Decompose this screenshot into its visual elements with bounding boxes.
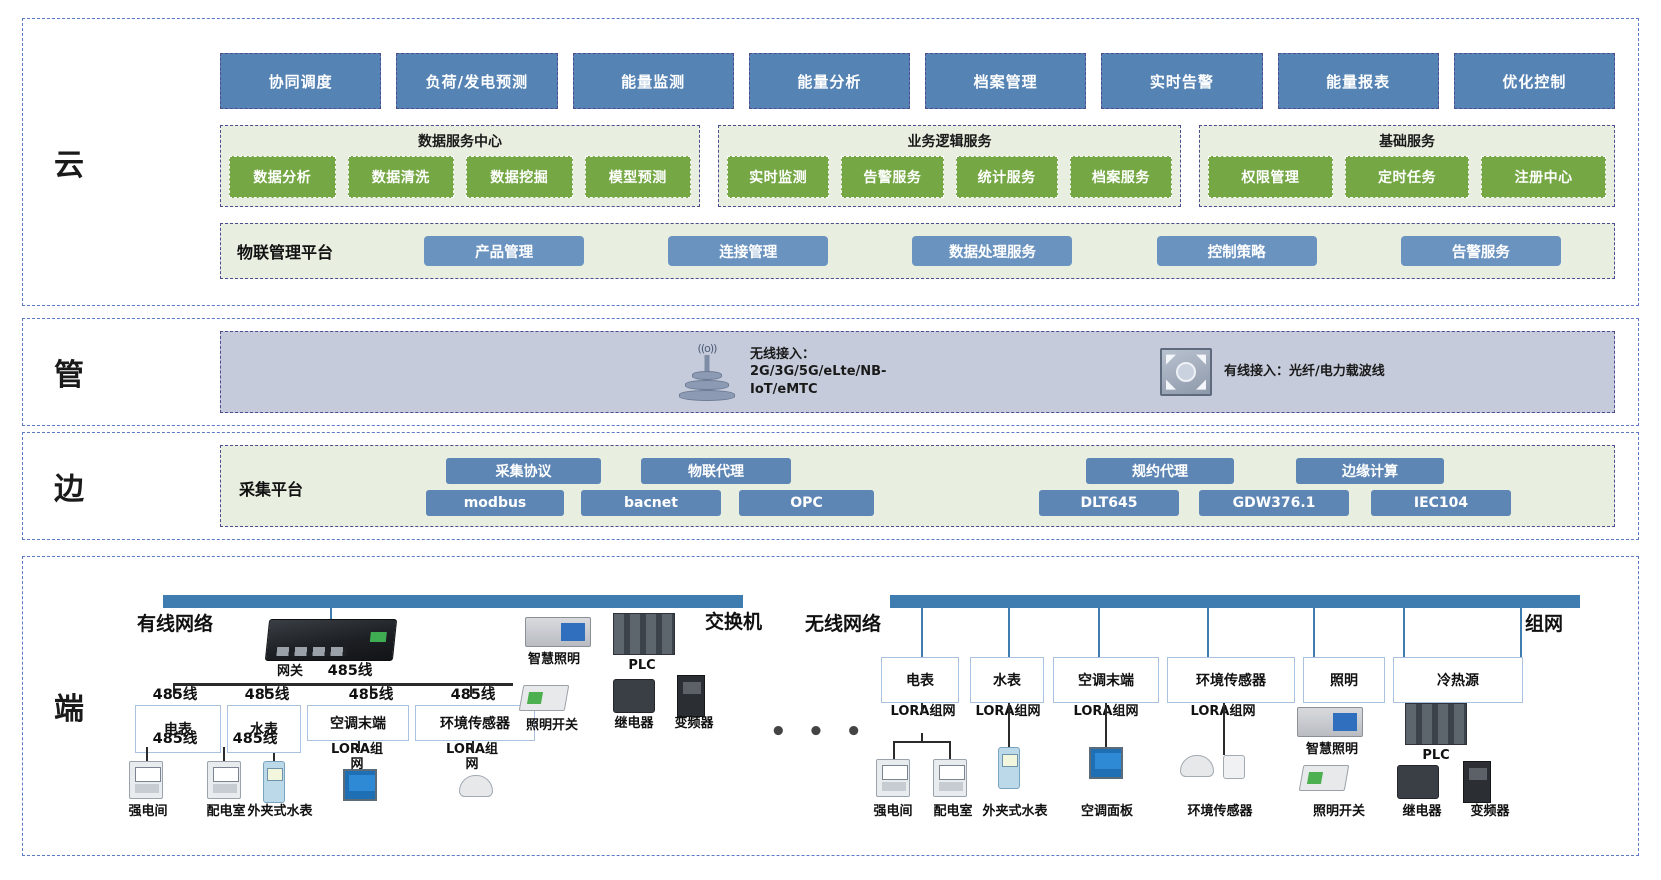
service-group-title: 数据服务中心 <box>229 131 691 151</box>
app-card-nengliang-jiance[interactable]: 能量监测 <box>573 53 734 109</box>
gateway-bus-label: 485线 <box>320 663 380 680</box>
electric-meter-icon <box>129 761 163 799</box>
device-box-kongtiao-moduan[interactable]: 空调末端 <box>307 705 409 741</box>
side-device-label-zhaoming-kaiguan: 照明开关 <box>511 719 593 734</box>
service-group-title: 业务逻辑服务 <box>727 131 1172 151</box>
electric-meter-icon <box>933 759 967 797</box>
rs485-link-label: 485线 <box>239 687 295 704</box>
lora-drop <box>1008 703 1010 747</box>
wireless-bus-drop <box>1403 608 1405 658</box>
app-card-youhua-kongzhi[interactable]: 优化控制 <box>1454 53 1615 109</box>
wireless-bus-drop <box>1313 608 1315 658</box>
app-card-label: 能量报表 <box>1326 71 1390 92</box>
meter-branch-stem <box>921 733 923 743</box>
side-device-label-plc: PLC <box>1403 749 1469 764</box>
wireless-access-item: ((o)) 无线接入：2G/3G/5G/eLte/NB-IoT/eMTC <box>676 342 935 402</box>
edge-chip-label: modbus <box>464 495 527 511</box>
smart-lighting-icon <box>1297 707 1363 737</box>
water-meter-icon <box>998 747 1020 789</box>
relay-icon <box>1397 765 1439 799</box>
app-card-label: 实时告警 <box>1150 71 1214 92</box>
environment-sensor-icon <box>459 775 493 797</box>
service-chip-label: 定时任务 <box>1378 167 1436 187</box>
edge-platform-label: 采集平台 <box>239 476 303 500</box>
wireless-access-text: 无线接入：2G/3G/5G/eLte/NB-IoT/eMTC <box>750 346 935 399</box>
cloud-apps-row: 协同调度 负荷/发电预测 能量监测 能量分析 档案管理 实时告警 能量报表 优化… <box>220 53 1615 109</box>
meter-drop <box>893 741 895 759</box>
switch-label: 交换机 <box>705 607 762 634</box>
app-card-nengliang-baobiao[interactable]: 能量报表 <box>1278 53 1439 109</box>
lora-drop <box>921 703 923 713</box>
service-chip-label: 统计服务 <box>978 167 1036 187</box>
side-device-label-jidianqi: 继电器 <box>603 717 665 732</box>
layer-label-cloud: 云 <box>23 140 115 184</box>
environment-sensor-icon <box>1180 755 1214 777</box>
service-chip-label: 模型预测 <box>609 167 667 187</box>
endpoint-label-bianpinqi: 变频器 <box>1455 805 1525 820</box>
service-group-data-center: 数据服务中心 数据分析 数据清洗 数据挖掘 模型预测 <box>220 125 700 207</box>
service-group-items: 数据分析 数据清洗 数据挖掘 模型预测 <box>229 156 691 198</box>
edge-chip-caiji-xieyi[interactable]: 采集协议 <box>446 458 601 484</box>
app-card-label: 能量分析 <box>797 71 861 92</box>
layer-label-edge: 边 <box>23 464 115 508</box>
radio-tower-icon: ((o)) <box>676 342 738 402</box>
iot-chip-lianjie-guanli[interactable]: 连接管理 <box>668 236 828 266</box>
endpoint-label-jidianqi: 继电器 <box>1387 805 1457 820</box>
iot-chip-label: 连接管理 <box>719 241 777 262</box>
lora-drop <box>472 741 474 751</box>
iot-chip-label: 数据处理服务 <box>949 241 1036 262</box>
wireless-network-bus <box>890 595 1580 608</box>
iot-chip-shuju-chuli-fuwu[interactable]: 数据处理服务 <box>912 236 1072 266</box>
service-chip-quanxian-guanli[interactable]: 权限管理 <box>1208 156 1333 198</box>
edge-chip-label: DLT645 <box>1081 495 1138 511</box>
environment-sensor-icon <box>1223 755 1245 779</box>
wireless-box-dianbiao[interactable]: 电表 <box>881 657 959 703</box>
iot-chip-label: 产品管理 <box>475 241 533 262</box>
app-card-label: 能量监测 <box>621 71 685 92</box>
plc-icon <box>1405 703 1467 745</box>
device-box-label: 空调末端 <box>330 713 386 733</box>
meter-drop <box>949 741 951 759</box>
app-card-label: 协同调度 <box>269 71 333 92</box>
iot-chip-chanpin-guanli[interactable]: 产品管理 <box>424 236 584 266</box>
wireless-box-shuibiao[interactable]: 水表 <box>970 657 1044 703</box>
service-chip-dangan-fuwu[interactable]: 档案服务 <box>1070 156 1172 198</box>
wired-access-text: 有线接入：光纤/电力载波线 <box>1224 363 1385 381</box>
wireless-box-lengreyuan[interactable]: 冷热源 <box>1393 657 1523 703</box>
wireless-box-zhaoming[interactable]: 照明 <box>1303 657 1385 703</box>
rs485-link-label: 485线 <box>147 687 203 704</box>
gateway-caption: 网关 <box>263 665 317 680</box>
wireless-network-title: 无线网络 <box>805 609 881 636</box>
gateway-icon <box>265 619 397 661</box>
edge-chip-gdw3761[interactable]: GDW376.1 <box>1199 490 1349 516</box>
device-box-label: 水表 <box>993 670 1021 690</box>
edge-chip-label: GDW376.1 <box>1233 495 1316 511</box>
device-box-label: 环境传感器 <box>1196 670 1266 690</box>
edge-chip-bacnet[interactable]: bacnet <box>581 490 721 516</box>
service-group-items: 实时监测 告警服务 统计服务 档案服务 <box>727 156 1172 198</box>
vfd-icon <box>1463 761 1491 803</box>
rs485-sublink-label: 485线 <box>227 731 283 748</box>
layer-body-cloud: 协同调度 负荷/发电预测 能量监测 能量分析 档案管理 实时告警 能量报表 优化… <box>115 19 1638 305</box>
edge-chip-label: 边缘计算 <box>1342 461 1398 481</box>
iot-chip-gaojing-fuwu[interactable]: 告警服务 <box>1401 236 1561 266</box>
service-group-title: 基础服务 <box>1208 131 1606 151</box>
side-device-label-zhihui-zhaoming: 智慧照明 <box>513 653 595 668</box>
endpoint-label-qiangdianjian: 强电间 <box>863 805 923 820</box>
service-chip-label: 数据挖掘 <box>490 167 548 187</box>
side-device-label-plc: PLC <box>607 659 677 674</box>
wired-network-bus <box>163 595 743 608</box>
wireless-bus-drop <box>1520 608 1522 658</box>
endpoint-label-zhaoming-kaiguan: 照明开关 <box>1297 805 1381 820</box>
device-box-label: 电表 <box>906 670 934 690</box>
endpoint-label-huanjing-chuanganqi: 环境传感器 <box>1170 805 1270 820</box>
vfd-icon <box>677 675 705 717</box>
service-chip-shuju-fenxi[interactable]: 数据分析 <box>229 156 336 198</box>
lora-drop <box>1105 703 1107 747</box>
edge-chip-opc[interactable]: OPC <box>739 490 874 516</box>
app-card-dangan-guanli[interactable]: 档案管理 <box>925 53 1086 109</box>
layer-device: 端 有线网络 交换机 网关 485线 485线 485线 485线 485线 电… <box>22 556 1639 856</box>
radio-waves-icon: ((o)) <box>698 342 717 355</box>
relay-icon <box>613 679 655 713</box>
edge-chip-bianyuan-jisuan[interactable]: 边缘计算 <box>1296 458 1444 484</box>
wireless-bus-drop <box>1098 608 1100 658</box>
app-card-label: 优化控制 <box>1502 71 1566 92</box>
device-box-label: 照明 <box>1330 670 1358 690</box>
endpoint-label-qiangdianjian: 强电间 <box>119 805 177 820</box>
app-card-nengliang-fenxi[interactable]: 能量分析 <box>749 53 910 109</box>
service-chip-shuju-qingxi[interactable]: 数据清洗 <box>348 156 455 198</box>
edge-collection-platform: 采集平台 采集协议 物联代理 规约代理 边缘计算 modbus bacnet O… <box>220 445 1615 527</box>
endpoint-label-kongtiao-mianban: 空调面板 <box>1067 805 1147 820</box>
lora-drop <box>358 741 360 751</box>
lighting-switch-icon <box>519 685 570 711</box>
layer-body-edge: 采集平台 采集协议 物联代理 规约代理 边缘计算 modbus bacnet O… <box>115 433 1638 539</box>
layer-body-pipe: ((o)) 无线接入：2G/3G/5G/eLte/NB-IoT/eMTC ◤ ◥… <box>115 319 1638 425</box>
iot-chip-label: 控制策略 <box>1208 241 1266 262</box>
service-chip-label: 数据清洗 <box>372 167 430 187</box>
edge-chip-guiyue-daili[interactable]: 规约代理 <box>1086 458 1234 484</box>
layer-cloud: 云 协同调度 负荷/发电预测 能量监测 能量分析 档案管理 实时告警 能量报表 … <box>22 18 1639 306</box>
edge-chip-label: 物联代理 <box>688 461 744 481</box>
rs485-sublink-label: 485线 <box>147 731 203 748</box>
electric-meter-icon <box>207 761 241 799</box>
service-chip-shuju-wajue[interactable]: 数据挖掘 <box>466 156 573 198</box>
rs485-trunk <box>173 683 513 686</box>
service-chip-label: 权限管理 <box>1241 167 1299 187</box>
service-group-business-logic: 业务逻辑服务 实时监测 告警服务 统计服务 档案服务 <box>718 125 1181 207</box>
network-switch-icon: ◤ ◥ ◣ ◢ <box>1160 348 1212 396</box>
edge-chip-wulian-daili[interactable]: 物联代理 <box>641 458 791 484</box>
iot-chip-kongzhi-celue[interactable]: 控制策略 <box>1157 236 1317 266</box>
service-chip-label: 档案服务 <box>1092 167 1150 187</box>
wireless-bus-drop <box>921 608 923 658</box>
rs485-link-label: 485线 <box>445 687 501 704</box>
app-card-shishi-gaojing[interactable]: 实时告警 <box>1101 53 1262 109</box>
rs485-link-label: 485线 <box>343 687 399 704</box>
edge-chip-label: OPC <box>790 495 822 511</box>
device-box-label: 空调末端 <box>1078 670 1134 690</box>
meter-drop <box>146 747 148 761</box>
cloud-service-groups: 数据服务中心 数据分析 数据清洗 数据挖掘 模型预测 业务逻辑服务 实时监测 告… <box>220 125 1615 207</box>
device-box-label: 冷热源 <box>1437 670 1479 690</box>
layer-body-device: 有线网络 交换机 网关 485线 485线 485线 485线 485线 电表 … <box>115 557 1638 855</box>
smart-lighting-icon <box>525 617 591 647</box>
edge-chip-label: 规约代理 <box>1132 461 1188 481</box>
endpoint-label-waijiashi-shuibiao: 外夹式水表 <box>241 805 319 820</box>
iot-platform-items: 产品管理 连接管理 数据处理服务 控制策略 告警服务 <box>387 236 1598 266</box>
iot-platform-label: 物联管理平台 <box>237 239 387 263</box>
app-card-label: 负荷/发电预测 <box>426 71 528 92</box>
wireless-lora-label: LORA组网 <box>890 705 956 720</box>
service-group-items: 权限管理 定时任务 注册中心 <box>1208 156 1606 198</box>
edge-chip-iec104[interactable]: IEC104 <box>1371 490 1511 516</box>
wireless-bus-drop <box>1008 608 1010 658</box>
ellipsis-separator: • • • <box>770 717 868 747</box>
app-card-xietiaodiaodu[interactable]: 协同调度 <box>220 53 381 109</box>
pipe-access-band: ((o)) 无线接入：2G/3G/5G/eLte/NB-IoT/eMTC ◤ ◥… <box>220 331 1615 413</box>
edge-chip-label: 采集协议 <box>496 461 552 481</box>
service-chip-label: 数据分析 <box>253 167 311 187</box>
wireless-network-label: 组网 <box>1525 609 1563 636</box>
device-box-label: 环境传感器 <box>440 713 510 733</box>
layer-edge: 边 采集平台 采集协议 物联代理 规约代理 边缘计算 modbus bacnet… <box>22 432 1639 540</box>
service-chip-shishi-jiance[interactable]: 实时监测 <box>727 156 829 198</box>
service-chip-moxing-yuce[interactable]: 模型预测 <box>585 156 692 198</box>
service-chip-label: 注册中心 <box>1515 167 1573 187</box>
wired-access-item: ◤ ◥ ◣ ◢ 有线接入：光纤/电力载波线 <box>1160 348 1385 396</box>
plc-icon <box>613 613 675 655</box>
ac-panel-icon <box>343 769 377 801</box>
service-chip-label: 告警服务 <box>863 167 921 187</box>
meter-drop <box>223 747 225 761</box>
layer-label-device: 端 <box>23 684 115 728</box>
edge-chip-label: bacnet <box>624 495 678 511</box>
edge-chip-label: IEC104 <box>1414 495 1468 511</box>
iot-management-platform: 物联管理平台 产品管理 连接管理 数据处理服务 控制策略 告警服务 <box>220 223 1615 279</box>
wireless-box-kongtiao-moduan[interactable]: 空调末端 <box>1053 657 1159 703</box>
service-chip-zhuce-zhongxin[interactable]: 注册中心 <box>1481 156 1606 198</box>
ac-panel-icon <box>1089 747 1123 779</box>
side-device-label-zhihui-zhaoming: 智慧照明 <box>1291 743 1373 758</box>
service-chip-label: 实时监测 <box>749 167 807 187</box>
layer-label-pipe: 管 <box>23 350 115 394</box>
endpoint-label-waijiashi-shuibiao: 外夹式水表 <box>973 805 1057 820</box>
app-card-fuhe-fadian-yuce[interactable]: 负荷/发电预测 <box>396 53 557 109</box>
lora-drop <box>1223 703 1225 755</box>
service-chip-gaojing-fuwu[interactable]: 告警服务 <box>841 156 943 198</box>
app-card-label: 档案管理 <box>974 71 1038 92</box>
edge-chip-dlt645[interactable]: DLT645 <box>1039 490 1179 516</box>
edge-chip-modbus[interactable]: modbus <box>426 490 564 516</box>
iot-chip-label: 告警服务 <box>1452 241 1510 262</box>
lighting-switch-icon <box>1299 765 1350 791</box>
water-meter-icon <box>263 761 285 803</box>
electric-meter-icon <box>876 759 910 797</box>
service-chip-tongji-fuwu[interactable]: 统计服务 <box>956 156 1058 198</box>
wireless-box-huanjing-chuanganqi[interactable]: 环境传感器 <box>1167 657 1295 703</box>
service-group-basic-services: 基础服务 权限管理 定时任务 注册中心 <box>1199 125 1615 207</box>
wired-network-title: 有线网络 <box>137 609 213 636</box>
side-device-label-bianpinqi: 变频器 <box>663 717 725 732</box>
layer-pipe: 管 ((o)) 无线接入：2G/3G/5G/eLte/NB-IoT/eMTC ◤… <box>22 318 1639 426</box>
wireless-bus-drop <box>1207 608 1209 658</box>
service-chip-dingshi-renwu[interactable]: 定时任务 <box>1345 156 1470 198</box>
